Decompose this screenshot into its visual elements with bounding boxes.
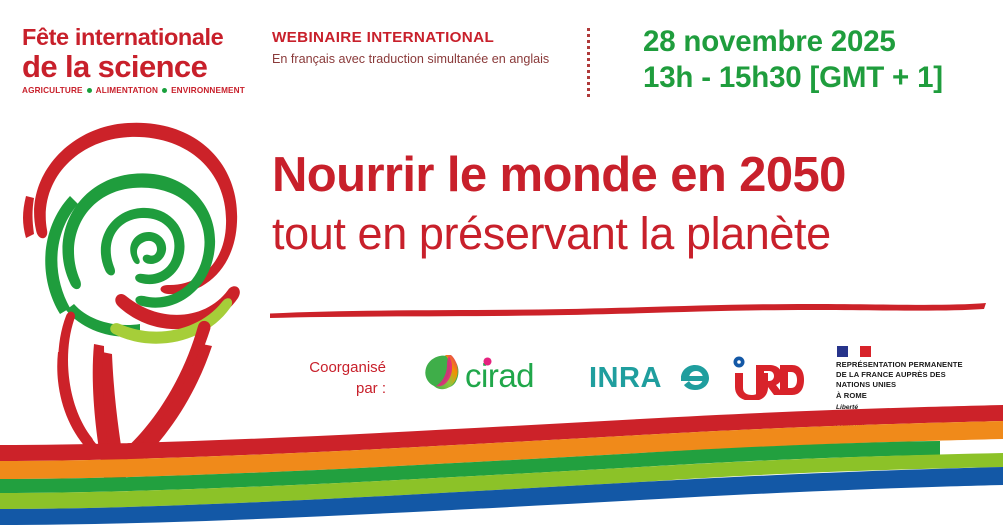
rf-line3: NATIONS UNIES <box>836 380 986 390</box>
inrae-wordmark-text: INRA <box>589 362 662 394</box>
cirad-i-dot-icon <box>484 358 492 366</box>
cirad-wordmark-text: cirad <box>465 357 534 394</box>
bullet-dot-icon <box>162 88 167 93</box>
rf-line1: REPRÉSENTATION PERMANENTE <box>836 360 986 370</box>
event-date: 28 novembre 2025 <box>643 24 943 60</box>
bullet-dot-icon <box>87 88 92 93</box>
poster-canvas: Fête internationale de la science AGRICU… <box>0 0 1003 525</box>
rainbow-wave-graphic <box>0 405 1003 525</box>
french-flag-icon <box>837 346 871 357</box>
rf-title-block: REPRÉSENTATION PERMANENTE DE LA FRANCE A… <box>836 360 986 401</box>
rf-line4: À ROME <box>836 391 986 401</box>
festival-title-line1: Fête internationale <box>22 26 254 50</box>
festival-title-line2: de la science <box>22 51 254 82</box>
cirad-logo[interactable]: cirad <box>421 352 556 402</box>
coorganized-line2: par : <box>281 379 386 400</box>
headline-block: Nourrir le monde en 2050 tout en préserv… <box>272 150 988 257</box>
inrae-logo[interactable]: INRA <box>589 360 711 394</box>
coorganized-label: Coorganisé par : <box>281 358 386 399</box>
webinar-title: WEBINAIRE INTERNATIONAL <box>272 30 567 47</box>
festival-logo-wordmark: Fête internationale de la science AGRICU… <box>22 26 254 95</box>
headline-secondary: tout en préservant la planète <box>272 210 988 257</box>
brush-stroke-divider <box>268 300 990 322</box>
coorganized-line1: Coorganisé <box>281 358 386 379</box>
rf-line2: DE LA FRANCE AUPRÈS DES <box>836 370 986 380</box>
event-date-block: 28 novembre 2025 13h - 15h30 [GMT + 1] <box>643 24 943 96</box>
tagline-alimentation: ALIMENTATION <box>96 86 158 95</box>
vertical-dotted-divider <box>587 28 590 100</box>
headline-primary: Nourrir le monde en 2050 <box>272 150 988 201</box>
webinar-subtitle: En français avec traduction simultanée e… <box>272 51 552 68</box>
ird-logo[interactable] <box>730 354 804 400</box>
festival-tagline: AGRICULTURE ALIMENTATION ENVIRONNEMENT <box>22 86 254 95</box>
tagline-environnement: ENVIRONNEMENT <box>171 86 245 95</box>
tagline-agriculture: AGRICULTURE <box>22 86 83 95</box>
webinar-info-block: WEBINAIRE INTERNATIONAL En français avec… <box>272 30 567 67</box>
event-time: 13h - 15h30 [GMT + 1] <box>643 60 943 96</box>
